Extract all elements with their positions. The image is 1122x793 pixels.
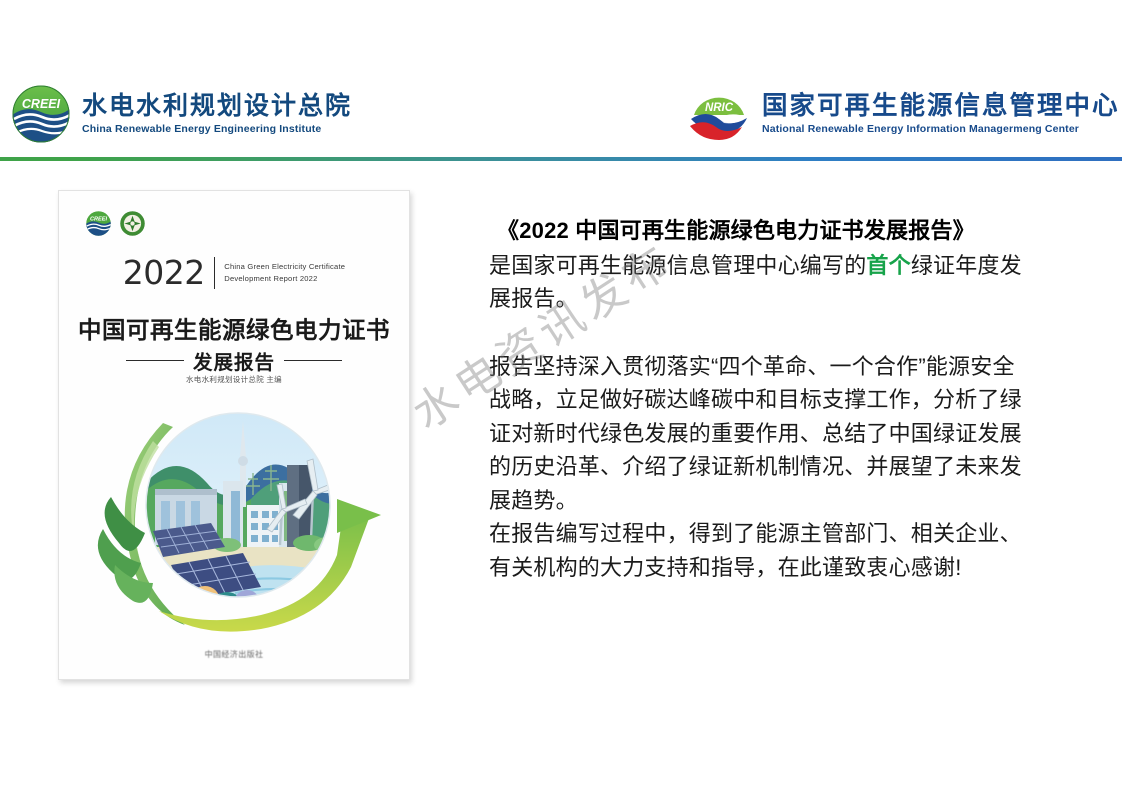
- cover-editor-credit: 水电水利规划设计总院 主编: [59, 374, 409, 385]
- cover-year: 2022: [123, 253, 205, 292]
- report-cover-image: CREEI 2022 China Green Electricity Certi…: [58, 190, 410, 680]
- paragraph-spacer: [489, 316, 1029, 350]
- cover-rule-left: [126, 360, 184, 362]
- report-body-paragraph-3: 在报告编写过程中，得到了能源主管部门、相关企业、有关机构的大力支持和指导，在此谨…: [489, 517, 1029, 584]
- report-body-paragraph-2: 报告坚持深入贯彻落实“四个革命、一个合作”能源安全战略，立足做好碳达峰碳中和目标…: [489, 350, 1029, 517]
- cover-secondary-logo-icon: [120, 211, 145, 236]
- cover-illustration-svg: [75, 387, 393, 639]
- nric-logo-svg: NRIC: [688, 85, 750, 143]
- header-divider-rule: [0, 157, 1122, 161]
- report-title: 《2022 中国可再生能源绿色电力证书发展报告》: [497, 214, 1029, 247]
- report-intro-paragraph: 是国家可再生能源信息管理中心编写的首个绿证年度发展报告。: [489, 249, 1029, 316]
- renewable-energy-circular-illustration: [75, 387, 393, 639]
- creei-organization-logo: CREEI 水电水利规划设计总院 China Renewable Energy …: [12, 85, 352, 143]
- cover-subtitle-cn: 发展报告: [193, 346, 275, 375]
- cover-creei-logo-svg: CREEI: [86, 211, 111, 236]
- cover-rule-right: [284, 360, 342, 362]
- page-header: CREEI 水电水利规划设计总院 China Renewable Energy …: [0, 0, 1122, 157]
- cover-year-divider: [214, 257, 216, 289]
- svg-text:NRIC: NRIC: [705, 102, 734, 114]
- creei-logo-svg: CREEI: [12, 85, 70, 143]
- report-description-panel: 《2022 中国可再生能源绿色电力证书发展报告》 是国家可再生能源信息管理中心编…: [489, 214, 1029, 584]
- nric-name-cn: 国家可再生能源信息管理中心: [762, 94, 1120, 120]
- nric-organization-logo: NRIC 国家可再生能源信息管理中心 National Renewable En…: [688, 85, 1120, 143]
- intro-text-before: 是国家可再生能源信息管理中心编写的: [489, 253, 866, 278]
- nric-logo-text: 国家可再生能源信息管理中心 National Renewable Energy …: [762, 94, 1120, 135]
- intro-highlight: 首个: [866, 253, 910, 278]
- cover-subtitle-row: 发展报告: [59, 346, 409, 375]
- cover-title-cn: 中国可再生能源绿色电力证书: [59, 311, 409, 345]
- cover-creei-logo-icon: CREEI: [86, 211, 111, 236]
- nric-logo-icon: NRIC: [688, 85, 750, 143]
- cover-secondary-logo-svg: [120, 211, 145, 236]
- creei-name-en: China Renewable Energy Engineering Insti…: [82, 124, 352, 135]
- svg-text:CREEI: CREEI: [90, 216, 108, 222]
- cover-english-title: China Green Electricity Certificate Deve…: [224, 261, 345, 284]
- creei-logo-icon: CREEI: [12, 85, 70, 143]
- creei-logo-text: 水电水利规划设计总院 China Renewable Energy Engine…: [82, 94, 352, 135]
- cover-english-line-1: China Green Electricity Certificate: [224, 261, 345, 272]
- svg-text:CREEI: CREEI: [22, 97, 61, 111]
- cover-logo-row: CREEI: [86, 211, 145, 236]
- nric-name-en: National Renewable Energy Information Ma…: [762, 124, 1120, 135]
- cover-year-row: 2022 China Green Electricity Certificate…: [59, 253, 409, 292]
- cover-publisher: 中国经济出版社: [59, 649, 409, 660]
- creei-name-cn: 水电水利规划设计总院: [82, 94, 352, 119]
- cover-english-line-2: Development Report 2022: [224, 273, 345, 284]
